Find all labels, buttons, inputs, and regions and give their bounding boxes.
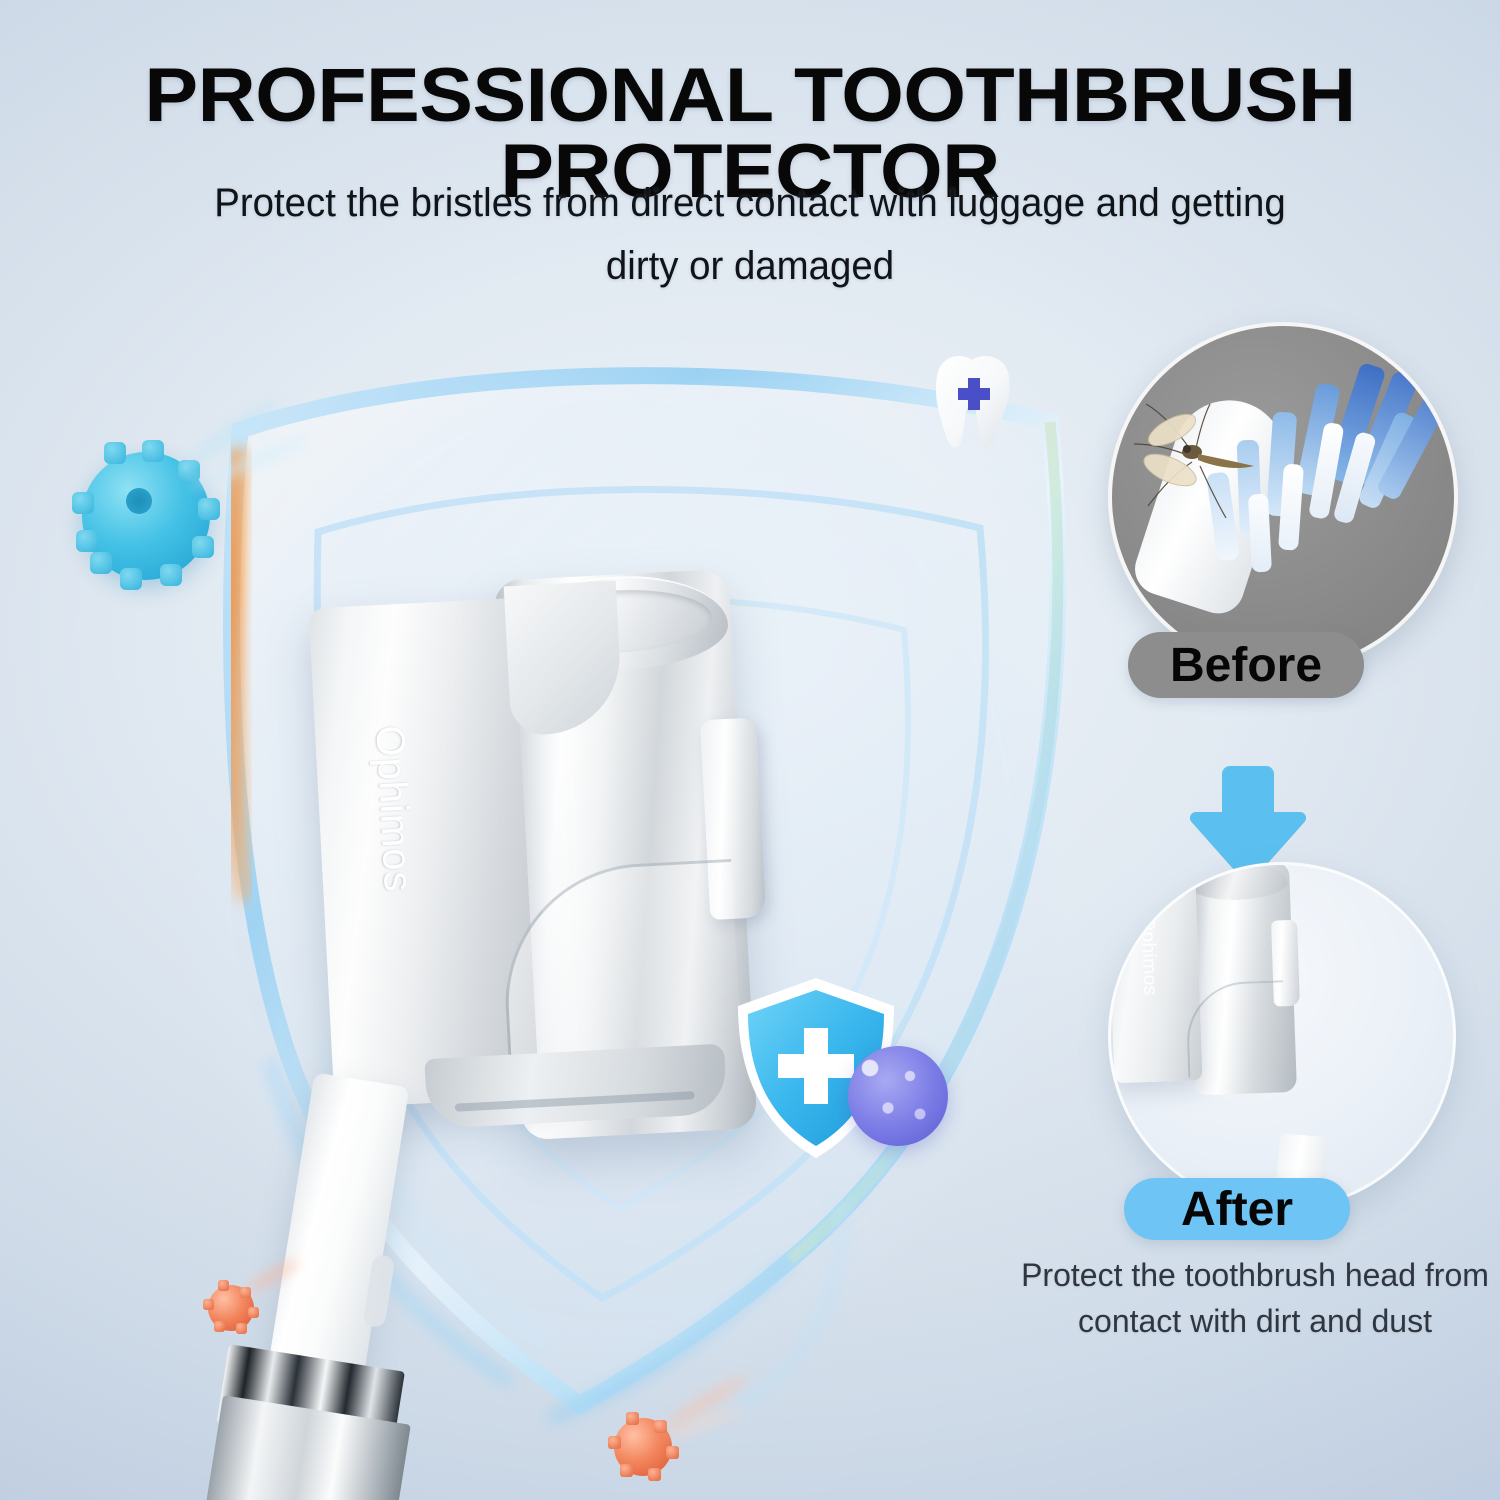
after-label-pill: After [1124, 1178, 1350, 1240]
after-image-circle: Ophimos [1108, 862, 1456, 1210]
brand-name-small: Ophimos [1135, 890, 1162, 1023]
mosquito-icon [1130, 396, 1280, 526]
germ-orange-small [208, 1285, 254, 1331]
after-caption: Protect the toothbrush head from contact… [1010, 1252, 1500, 1344]
cap-front-panel [309, 598, 540, 1108]
before-label: Before [1170, 638, 1322, 693]
tooth-icon [924, 350, 1020, 454]
before-label-pill: Before [1128, 632, 1364, 698]
product-infographic: PROFESSIONAL TOOTHBRUSH PROTECTOR Protec… [0, 0, 1500, 1500]
germ-orange-large [614, 1418, 672, 1476]
handle-neck [269, 1072, 409, 1373]
page-subtitle: Protect the bristles from direct contact… [184, 172, 1317, 298]
germ-purple [848, 1046, 948, 1146]
germ-cyan [82, 452, 210, 580]
after-label: After [1181, 1182, 1293, 1237]
protector-cap-small: Ophimos [1108, 862, 1303, 1098]
before-image-circle [1108, 322, 1458, 672]
